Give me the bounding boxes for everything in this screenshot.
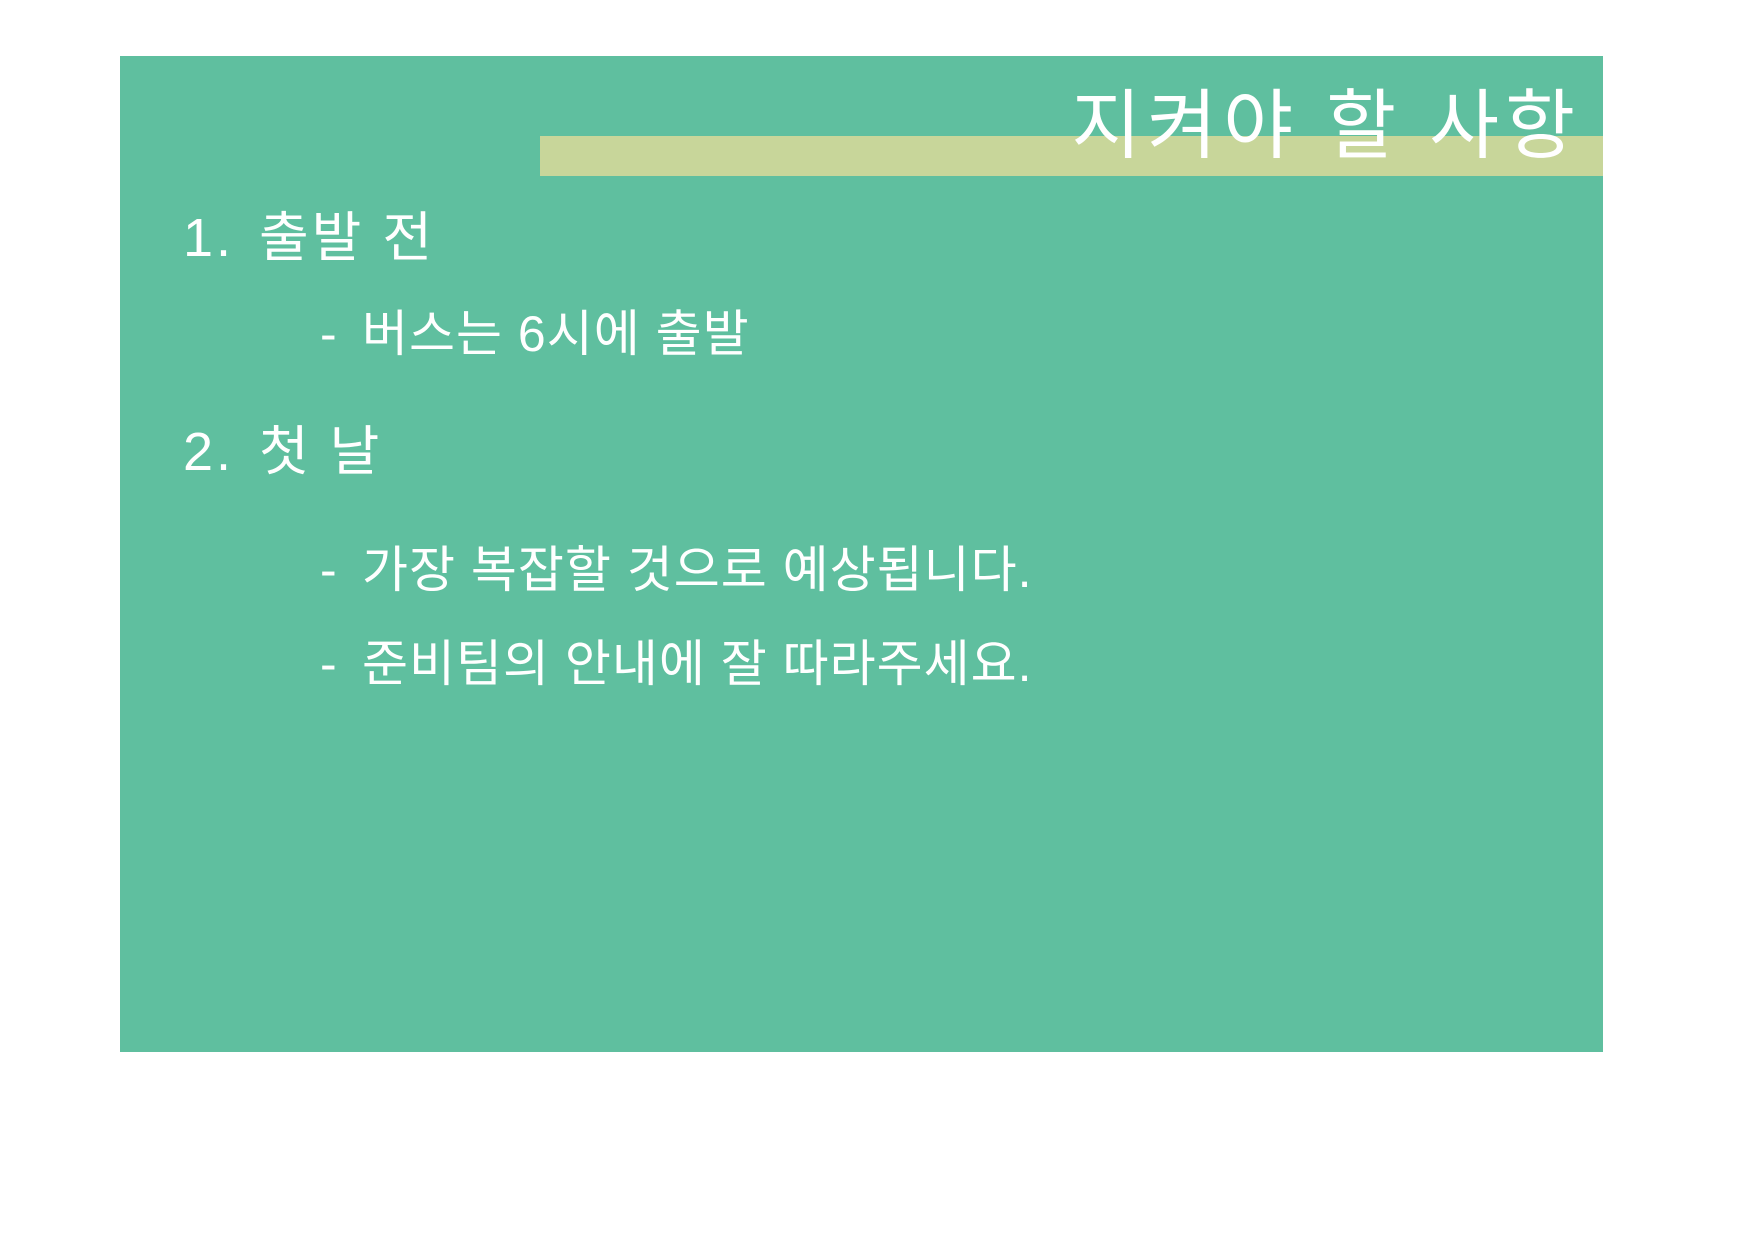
list-item: -가장 복잡할 것으로 예상됩니다. [120, 540, 1603, 600]
presentation-slide: 지켜야 할 사항 1.출발 전 -버스는 6시에 출발 2.첫 날 -가장 복잡… [0, 0, 1755, 1240]
list-item-marker: - [320, 540, 362, 600]
list-item: -준비팀의 안내에 잘 따라주세요. [120, 634, 1603, 694]
list-item: 1.출발 전 [120, 206, 1603, 270]
list-item: -버스는 6시에 출발 [120, 304, 1603, 364]
list-item-label: 버스는 6시에 출발 [362, 306, 750, 362]
list-spacer [120, 398, 1603, 420]
list-spacer [120, 518, 1603, 540]
list-item-marker: 2. [183, 420, 259, 484]
list-item-label: 준비팀의 안내에 잘 따라주세요. [362, 636, 1033, 692]
slide-body-list: 1.출발 전 -버스는 6시에 출발 2.첫 날 -가장 복잡할 것으로 예상됩… [120, 206, 1603, 728]
list-item-marker: - [320, 304, 362, 364]
list-item-marker: 1. [183, 206, 259, 270]
list-item-label: 출발 전 [259, 208, 435, 268]
list-item-label: 첫 날 [259, 422, 382, 482]
slide-content-panel: 지켜야 할 사항 1.출발 전 -버스는 6시에 출발 2.첫 날 -가장 복잡… [120, 56, 1603, 1052]
list-item: 2.첫 날 [120, 420, 1603, 484]
list-item-label: 가장 복잡할 것으로 예상됩니다. [362, 542, 1033, 598]
slide-title: 지켜야 할 사항 [381, 84, 1581, 170]
list-item-marker: - [320, 634, 362, 694]
